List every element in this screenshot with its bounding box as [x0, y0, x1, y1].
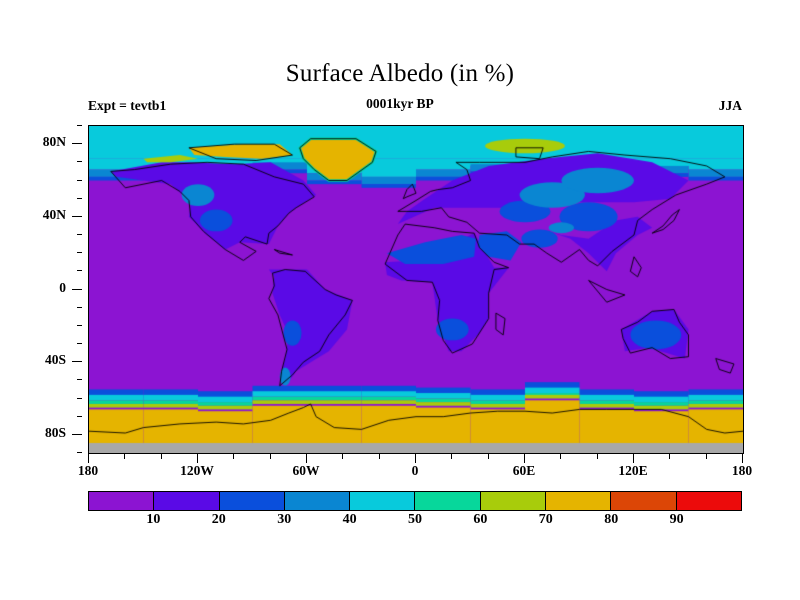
- x-minor-tick: [342, 454, 343, 459]
- colorbar: [88, 491, 742, 511]
- x-major-tick: [306, 454, 307, 463]
- colorbar-band: [611, 492, 676, 510]
- x-minor-tick: [379, 454, 380, 459]
- x-minor-tick: [451, 454, 452, 459]
- colorbar-label: 50: [408, 512, 422, 528]
- x-axis-label: 0: [412, 463, 419, 479]
- y-axis-label: 0: [59, 280, 66, 296]
- colorbar-band: [350, 492, 415, 510]
- x-major-tick: [742, 454, 743, 463]
- y-axis-label: 40N: [43, 207, 66, 223]
- y-major-tick: [72, 143, 82, 144]
- colorbar-label: 30: [277, 512, 291, 528]
- y-minor-tick: [77, 307, 82, 308]
- colorbar-label: 70: [539, 512, 553, 528]
- x-minor-tick: [233, 454, 234, 459]
- colorbar-band: [154, 492, 219, 510]
- y-minor-tick: [77, 379, 82, 380]
- experiment-label: Expt = tevtb1: [88, 98, 166, 114]
- colorbar-band: [481, 492, 546, 510]
- page-title: Surface Albedo (in %): [0, 60, 800, 88]
- x-minor-tick: [124, 454, 125, 459]
- albedo-heatmap-canvas: [89, 126, 743, 453]
- y-minor-tick: [77, 398, 82, 399]
- x-major-tick: [524, 454, 525, 463]
- y-minor-tick: [77, 270, 82, 271]
- x-minor-tick: [706, 454, 707, 459]
- y-minor-tick: [77, 125, 82, 126]
- x-minor-tick: [488, 454, 489, 459]
- x-axis: 180120W60W060E120E180: [88, 454, 742, 494]
- y-major-tick: [72, 289, 82, 290]
- map-plot-area: [88, 125, 744, 454]
- x-axis-label: 60E: [513, 463, 536, 479]
- y-minor-tick: [77, 161, 82, 162]
- x-major-tick: [88, 454, 89, 463]
- colorbar-band: [677, 492, 741, 510]
- x-major-tick: [197, 454, 198, 463]
- x-minor-tick: [669, 454, 670, 459]
- colorbar-band: [546, 492, 611, 510]
- x-axis-label: 60W: [293, 463, 320, 479]
- colorbar-band: [220, 492, 285, 510]
- season-label: JJA: [719, 98, 742, 114]
- colorbar-band: [285, 492, 350, 510]
- colorbar-tick-labels: 102030405060708090: [88, 512, 742, 536]
- y-minor-tick: [77, 198, 82, 199]
- y-minor-tick: [77, 325, 82, 326]
- colorbar-label: 60: [473, 512, 487, 528]
- colorbar-label: 90: [670, 512, 684, 528]
- y-minor-tick: [77, 343, 82, 344]
- y-axis-label: 80S: [45, 425, 66, 441]
- y-minor-tick: [77, 234, 82, 235]
- colorbar-label: 10: [146, 512, 160, 528]
- y-axis-label: 80N: [43, 134, 66, 150]
- y-minor-tick: [77, 452, 82, 453]
- x-minor-tick: [270, 454, 271, 459]
- y-major-tick: [72, 361, 82, 362]
- y-minor-tick: [77, 252, 82, 253]
- x-major-tick: [415, 454, 416, 463]
- x-minor-tick: [597, 454, 598, 459]
- x-axis-label: 120E: [618, 463, 647, 479]
- x-axis-label: 120W: [180, 463, 214, 479]
- colorbar-label: 40: [343, 512, 357, 528]
- y-axis-label: 40S: [45, 352, 66, 368]
- y-minor-tick: [77, 416, 82, 417]
- x-axis-label: 180: [78, 463, 98, 479]
- colorbar-label: 20: [212, 512, 226, 528]
- x-minor-tick: [161, 454, 162, 459]
- x-minor-tick: [560, 454, 561, 459]
- y-major-tick: [72, 216, 82, 217]
- x-major-tick: [633, 454, 634, 463]
- colorbar-band: [415, 492, 480, 510]
- y-axis: 80N40N040S80S: [0, 125, 82, 452]
- y-minor-tick: [77, 180, 82, 181]
- colorbar-label: 80: [604, 512, 618, 528]
- colorbar-band: [89, 492, 154, 510]
- y-major-tick: [72, 434, 82, 435]
- figure: Surface Albedo (in %) 0001kyr BP Expt = …: [0, 0, 800, 600]
- x-axis-label: 180: [732, 463, 752, 479]
